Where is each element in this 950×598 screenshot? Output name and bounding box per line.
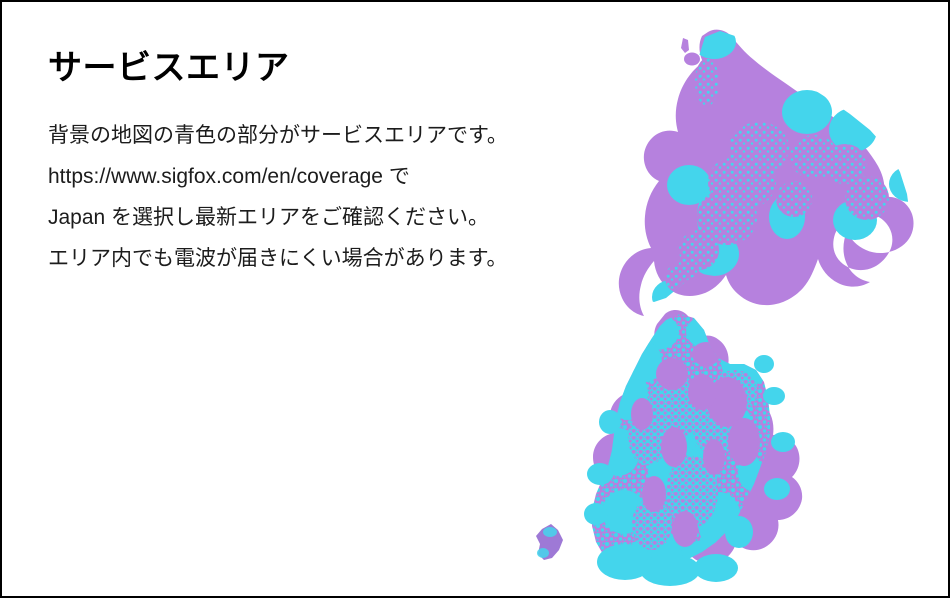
land-patch-shape [631, 398, 653, 430]
map-region-tohoku [584, 307, 802, 586]
coverage-cell-shape [889, 166, 931, 202]
coverage-map [2, 2, 950, 598]
coverage-cell-shape [764, 478, 790, 500]
description-line: エリア内でも電波が届きにくい場合があります。 [48, 238, 588, 279]
coverage-cell-shape [845, 176, 889, 220]
coverage-cell-shape [587, 463, 613, 485]
land-patch-shape [672, 511, 698, 547]
map-region-hokkaido [619, 25, 931, 316]
coverage-cell-shape [754, 355, 774, 373]
slide-canvas: サービスエリア 背景の地図の青色の部分がサービスエリアです。 https://w… [0, 0, 950, 598]
land-patch-shape [728, 418, 760, 466]
page-title: サービスエリア [48, 49, 290, 88]
coverage-cell-shape [599, 410, 621, 434]
description-text: 背景の地図の青色の部分がサービスエリアです。 https://www.sigfo… [48, 115, 588, 279]
land-patch-shape [656, 358, 688, 390]
coverage-cell-shape [537, 548, 549, 558]
coverage-cell-shape [694, 554, 738, 582]
land-shape-rishiri [681, 38, 689, 53]
land-patch-shape [642, 476, 666, 512]
description-line-url: https://www.sigfox.com/en/coverage で [48, 156, 588, 197]
coverage-cell-shape [771, 432, 795, 452]
coverage-cell-shape [695, 58, 719, 106]
map-region-sado [536, 524, 563, 560]
land-patch-shape [688, 374, 716, 410]
description-line: Japan を選択し最新エリアをご確認ください。 [48, 197, 588, 238]
land-patch-shape [703, 439, 725, 475]
coverage-cell-shape [725, 516, 753, 548]
coverage-cell-shape [584, 503, 608, 525]
description-line: 背景の地図の青色の部分がサービスエリアです。 [48, 115, 588, 156]
coverage-cell-shape [763, 387, 785, 405]
coverage-cell-shape [635, 314, 679, 350]
coverage-cell-shape [543, 527, 557, 537]
coverage-map-svg [2, 2, 950, 598]
land-patch-shape [661, 427, 687, 467]
coverage-cell-shape [776, 181, 812, 217]
coverage-cell-shape [640, 554, 700, 586]
coverage-cell-shape [782, 90, 832, 134]
land-shape-rebun [684, 53, 700, 66]
